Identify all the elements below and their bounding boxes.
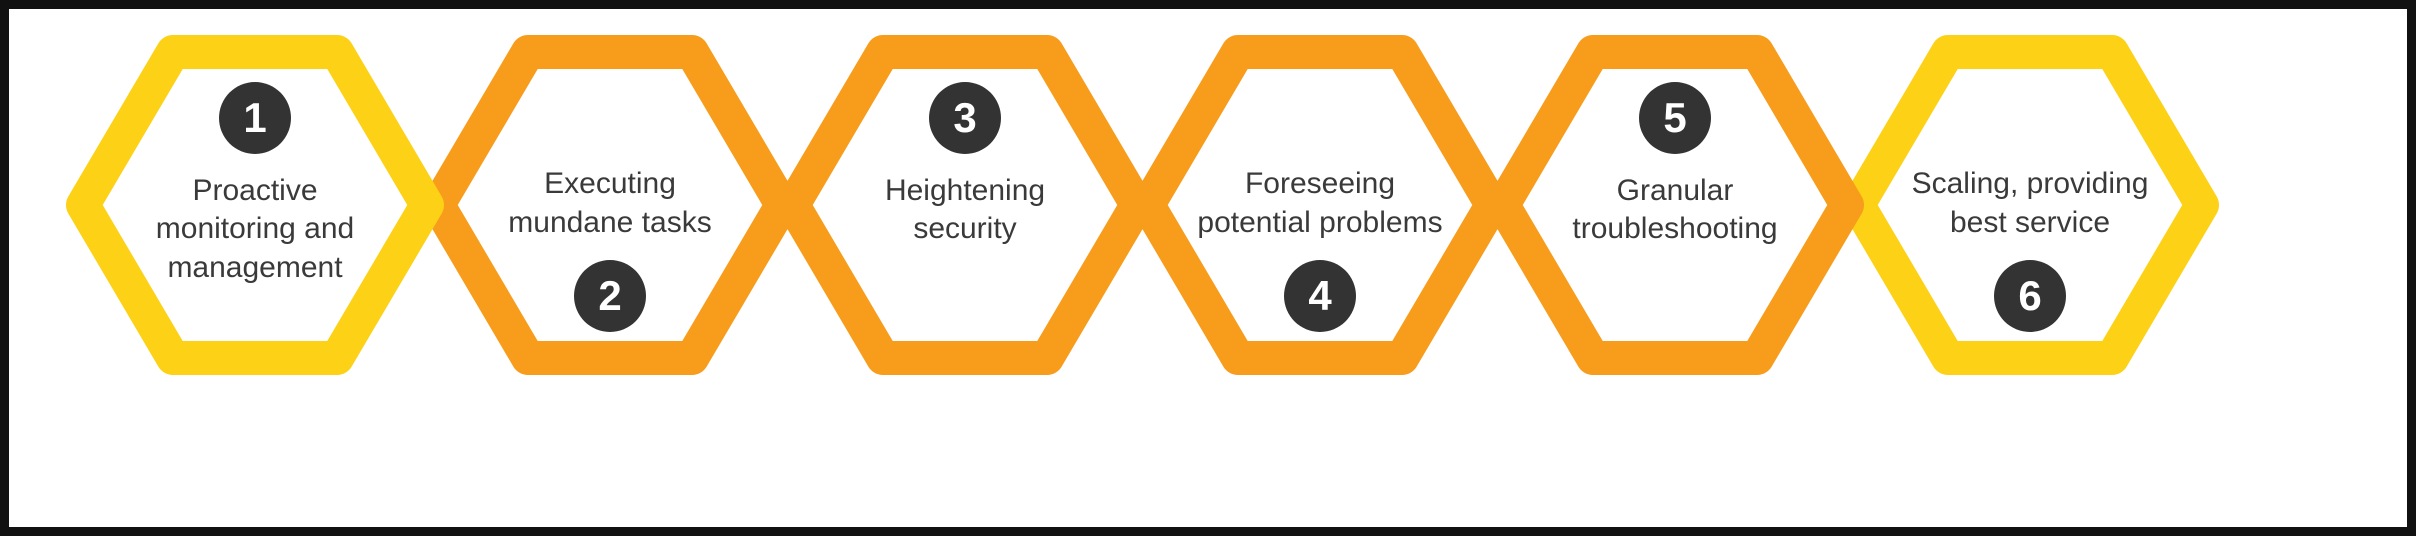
hexagon-step-6[interactable]: Scaling, providing best service6: [1830, 30, 2230, 380]
hexagon-step-3[interactable]: 3Heightening security: [765, 30, 1165, 380]
hexagon-step-2[interactable]: Executing mundane tasks2: [410, 30, 810, 380]
hexagon-process-chain: 1Proactive monitoring and managementExec…: [0, 0, 2416, 536]
hexagon-outline-6: [1830, 30, 2230, 380]
hexagon-outline-4: [1120, 30, 1520, 380]
hexagon-step-4[interactable]: Foreseeing potential problems4: [1120, 30, 1520, 380]
hexagon-step-1[interactable]: 1Proactive monitoring and management: [55, 30, 455, 380]
hexagon-outline-3: [765, 30, 1165, 380]
hexagon-outline-1: [55, 30, 455, 380]
hexagon-step-5[interactable]: 5Granular troubleshooting: [1475, 30, 1875, 380]
hexagon-outline-5: [1475, 30, 1875, 380]
hexagon-outline-2: [410, 30, 810, 380]
slide-canvas: 1Proactive monitoring and managementExec…: [0, 0, 2416, 536]
